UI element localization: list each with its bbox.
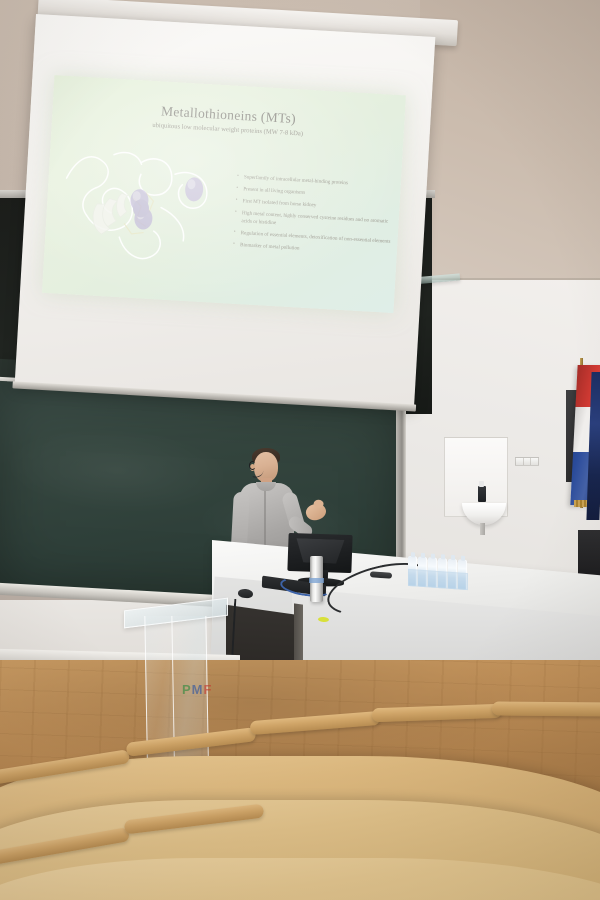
- soap-dispenser-pump: [479, 481, 484, 487]
- light-switches[interactable]: [515, 457, 539, 466]
- drink-bottle-cap: [310, 553, 323, 559]
- logo-letter-f: F: [204, 682, 213, 697]
- projection-screen[interactable]: Metallothioneins (MTs) ubiquitous low mo…: [15, 14, 436, 406]
- water-bottle-pack[interactable]: [408, 556, 468, 590]
- soap-dispenser: [478, 486, 486, 502]
- slide-bullet-list: Superfamily of intracellular metal-bindi…: [232, 174, 396, 264]
- protein-structure-figure: [56, 134, 224, 295]
- bench-backrest: [492, 701, 600, 716]
- logo-letter-p: P: [182, 682, 192, 697]
- presentation-slide: Metallothioneins (MTs) ubiquitous low mo…: [42, 75, 406, 313]
- sink-pipe: [480, 523, 485, 535]
- lecture-hall-scene: Metallothioneins (MTs) ubiquitous low mo…: [0, 0, 600, 900]
- presenter-right-hand: [304, 501, 328, 522]
- logo-letter-m: M: [192, 682, 204, 697]
- drink-bottle-band: [309, 578, 324, 583]
- lectern-logo: PMF: [182, 682, 212, 697]
